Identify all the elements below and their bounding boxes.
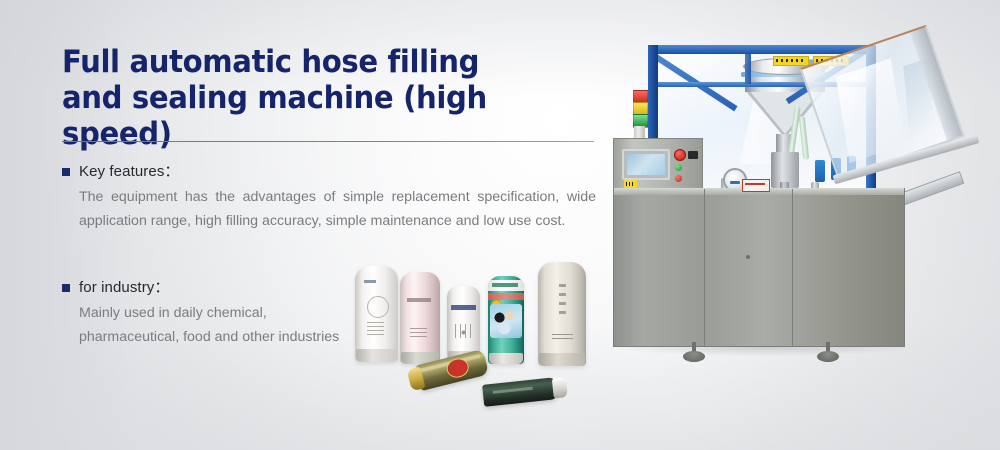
foot-pad	[683, 351, 705, 362]
feature-block-industry: for industry： Mainly used in daily chemi…	[62, 278, 362, 349]
tube-brand-mark	[559, 284, 566, 318]
tube-body	[482, 377, 558, 407]
frame-post	[745, 54, 751, 84]
page-title: Full automatic hose filling and sealing …	[62, 44, 566, 152]
pink-tube	[400, 272, 440, 364]
selector-switch[interactable]	[688, 151, 698, 159]
hmi-touchscreen[interactable]	[622, 149, 670, 180]
cabinet-lock[interactable]	[746, 255, 750, 259]
machine-photo	[595, 20, 995, 370]
tube-color-band	[488, 293, 524, 300]
tube-body	[355, 266, 398, 362]
cabinet-door-seam	[792, 189, 793, 346]
tube-graphic	[455, 324, 472, 338]
safety-sticker	[742, 179, 770, 192]
tube-cap	[489, 353, 523, 364]
tube-brand-mark	[364, 280, 376, 283]
feature-block-key-features: Key features： The equipment has the adva…	[62, 162, 596, 233]
white-cream-tube	[355, 266, 398, 362]
product-banner: Full automatic hose filling and sealing …	[0, 0, 1000, 450]
industry-text: Mainly used in daily chemical, pharmaceu…	[79, 301, 362, 349]
title-divider	[62, 141, 594, 142]
green-sunplay-tube	[488, 276, 524, 364]
tube-label-text	[367, 322, 384, 338]
bullet-row-key-features: Key features：	[62, 162, 596, 182]
emergency-stop-button[interactable]	[674, 149, 686, 161]
tube-cap	[552, 377, 568, 398]
square-bullet-icon	[62, 284, 70, 292]
tube-label-text	[552, 334, 573, 342]
square-bullet-icon	[62, 168, 70, 176]
stop-button[interactable]	[675, 175, 682, 182]
control-cabinet	[613, 138, 703, 191]
start-button[interactable]	[675, 164, 682, 171]
hmi-screen	[627, 154, 665, 175]
sensor-panel	[815, 160, 825, 182]
ce-warning-label-icon	[624, 180, 637, 188]
tube-brand-mark	[488, 280, 524, 291]
cabinet-door-seam	[704, 189, 705, 346]
leveling-foot	[817, 342, 839, 362]
tube-body	[400, 272, 440, 364]
tube-leaf-emblem-icon	[367, 296, 389, 318]
tube-cap	[539, 353, 585, 366]
product-tubes-group	[340, 252, 610, 420]
tube-body	[538, 262, 586, 366]
industry-heading: for industry：	[79, 278, 170, 298]
lower-cabinet	[613, 188, 905, 347]
tube-body	[488, 276, 524, 364]
large-beige-tube	[538, 262, 586, 366]
tube-brand-mark	[451, 305, 476, 310]
warning-label	[773, 56, 809, 66]
key-features-text: The equipment has the advantages of simp…	[79, 185, 596, 233]
tube-cap	[356, 349, 397, 362]
dark-green-tube	[482, 377, 558, 407]
bullet-row-industry: for industry：	[62, 278, 362, 298]
tube-brand-mark	[407, 298, 431, 302]
tube-label-text	[410, 328, 427, 340]
door-reflection	[836, 58, 905, 163]
key-features-heading: Key features：	[79, 162, 180, 182]
text-column: Full automatic hose filling and sealing …	[62, 44, 598, 152]
tube-label-text	[493, 387, 533, 394]
leveling-foot	[683, 342, 705, 362]
foot-pad	[817, 351, 839, 362]
tube-character-graphic	[490, 304, 522, 338]
